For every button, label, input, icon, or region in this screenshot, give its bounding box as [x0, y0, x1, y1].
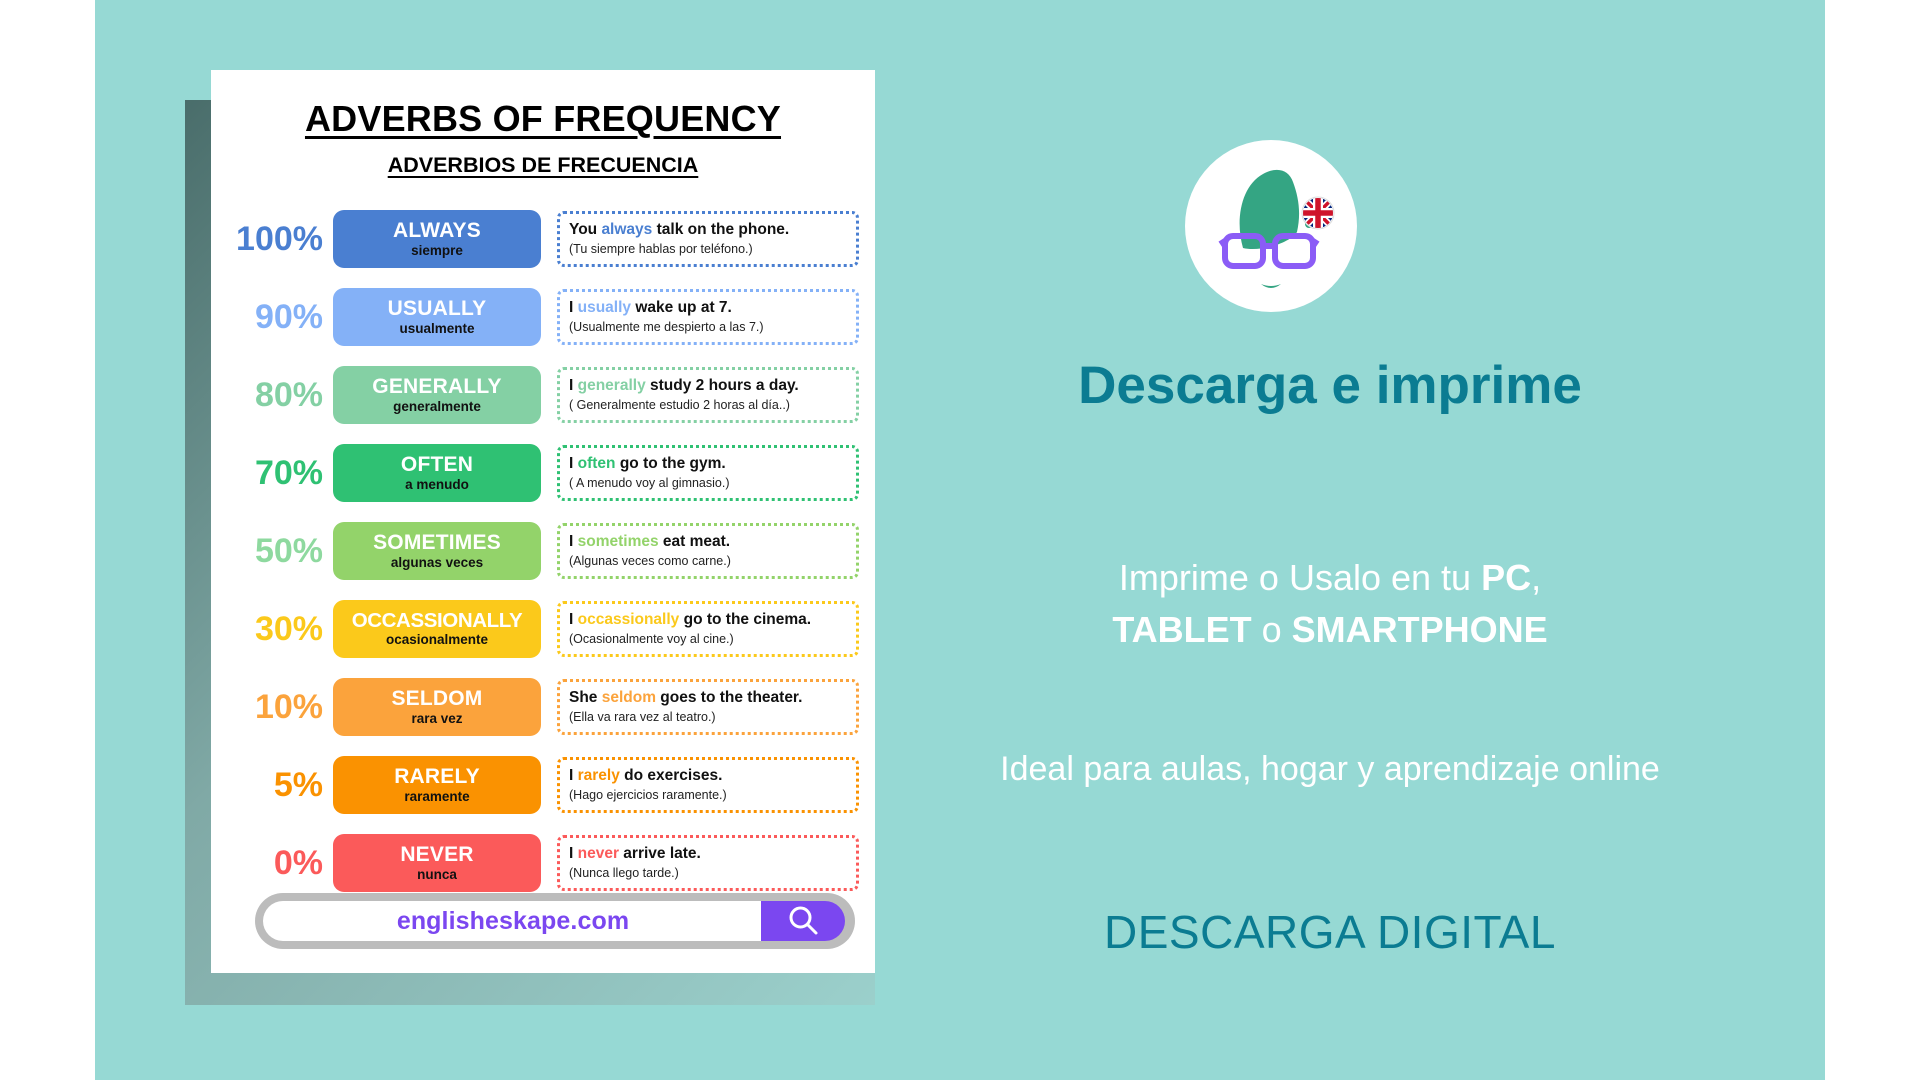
example-adverb: generally	[578, 377, 646, 394]
search-icon	[784, 902, 822, 940]
poster-card: ADVERBS OF FREQUENCY ADVERBIOS DE FRECUE…	[211, 70, 875, 973]
example-box: I occassionally go to the cinema.(Ocasio…	[557, 601, 859, 657]
adverb-spanish: algunas veces	[391, 556, 483, 571]
search-bar[interactable]: englisheskape.com	[255, 893, 855, 949]
adverb-pill: NEVERnunca	[333, 834, 541, 892]
adverb-english: USUALLY	[388, 298, 487, 320]
percent-label: 30%	[225, 612, 333, 646]
adverb-english: ALWAYS	[393, 220, 481, 242]
example-spanish: (Hago ejercicios raramente.)	[569, 788, 856, 803]
example-adverb: rarely	[578, 767, 620, 784]
adverb-row: 80%GENERALLYgeneralmenteI generally stud…	[225, 356, 875, 434]
percent-label: 50%	[225, 534, 333, 568]
percent-label: 0%	[225, 846, 333, 880]
adverb-row: 0%NEVERnuncaI never arrive late. (Nunca …	[225, 824, 875, 902]
example-english: I rarely do exercises.	[569, 767, 856, 785]
example-english: I often go to the gym.	[569, 455, 856, 473]
example-adverb: seldom	[602, 689, 656, 706]
example-spanish: (Tu siempre hablas por teléfono.)	[569, 242, 856, 257]
adverb-row: 50%SOMETIMESalgunas vecesI sometimes eat…	[225, 512, 875, 590]
example-box: You always talk on the phone.(Tu siempre…	[557, 211, 859, 267]
percent-label: 80%	[225, 378, 333, 412]
percent-label: 70%	[225, 456, 333, 490]
example-spanish: ( Generalmente estudio 2 horas al día..)	[569, 398, 856, 413]
adverb-spanish: usualmente	[399, 322, 474, 337]
example-box: I never arrive late. (Nunca llego tarde.…	[557, 835, 859, 891]
adverb-rows: 100%ALWAYSsiempreYou always talk on the …	[211, 200, 875, 902]
promo-line1-or: o	[1252, 609, 1292, 650]
example-box: I generally study 2 hours a day.( Genera…	[557, 367, 859, 423]
promo-digital-download-text: DESCARGA DIGITAL	[960, 905, 1700, 959]
adverb-pill: USUALLYusualmente	[333, 288, 541, 346]
promo-device-smartphone: SMARTPHONE	[1292, 609, 1548, 650]
avatar-face-icon	[1185, 140, 1357, 312]
example-adverb: often	[578, 455, 616, 472]
example-spanish: (Ocasionalmente voy al cine.)	[569, 632, 856, 647]
search-button[interactable]	[761, 901, 845, 941]
slide: ADVERBS OF FREQUENCY ADVERBIOS DE FRECUE…	[0, 0, 1920, 1080]
example-english: You always talk on the phone.	[569, 221, 856, 239]
example-spanish: (Algunas veces como carne.)	[569, 554, 856, 569]
adverb-row: 5%RARELYraramenteI rarely do exercises.(…	[225, 746, 875, 824]
example-spanish: (Nunca llego tarde.)	[569, 866, 856, 881]
adverb-row: 70%OFTENa menudoI often go to the gym.( …	[225, 434, 875, 512]
example-adverb: always	[601, 221, 652, 238]
promo-device-pc: PC	[1481, 557, 1531, 598]
example-spanish: (Usualmente me despierto a las 7.)	[569, 320, 856, 335]
adverb-pill: SELDOMrara vez	[333, 678, 541, 736]
adverb-english: SOMETIMES	[373, 532, 501, 554]
example-english: I generally study 2 hours a day.	[569, 377, 856, 395]
example-spanish: (Ella va rara vez al teatro.)	[569, 710, 856, 725]
adverb-english: OFTEN	[401, 454, 473, 476]
example-english: I usually wake up at 7.	[569, 299, 856, 317]
adverb-spanish: a menudo	[405, 478, 469, 493]
search-url-text: englisheskape.com	[397, 907, 629, 936]
example-english: I never arrive late.	[569, 845, 856, 863]
adverb-english: OCCASSIONALLY	[352, 610, 523, 632]
example-adverb: sometimes	[578, 533, 659, 550]
poster-container: ADVERBS OF FREQUENCY ADVERBIOS DE FRECUE…	[185, 70, 875, 1000]
example-english: I sometimes eat meat.	[569, 533, 856, 551]
example-adverb: usually	[578, 299, 631, 316]
adverb-spanish: ocasionalmente	[386, 633, 488, 648]
poster-subtitle: ADVERBIOS DE FRECUENCIA	[211, 153, 875, 178]
adverb-spanish: rara vez	[411, 712, 462, 727]
adverb-pill: GENERALLYgeneralmente	[333, 366, 541, 424]
adverb-spanish: nunca	[417, 868, 457, 883]
promo-heading: Descarga e imprime	[960, 355, 1700, 418]
example-box: She seldom goes to the theater.(Ella va …	[557, 679, 859, 735]
search-input[interactable]: englisheskape.com	[263, 901, 763, 941]
adverb-pill: RARELYraramente	[333, 756, 541, 814]
percent-label: 100%	[225, 222, 333, 256]
adverb-english: SELDOM	[391, 688, 482, 710]
example-spanish: ( A menudo voy al gimnasio.)	[569, 476, 856, 491]
promo-line1-prefix: Imprime o Usalo en tu	[1119, 557, 1481, 598]
adverb-spanish: raramente	[404, 790, 469, 805]
example-english: She seldom goes to the theater.	[569, 689, 856, 707]
example-english: I occassionally go to the cinema.	[569, 611, 856, 629]
adverb-row: 10%SELDOMrara vezShe seldom goes to the …	[225, 668, 875, 746]
adverb-pill: SOMETIMESalgunas veces	[333, 522, 541, 580]
adverb-spanish: siempre	[411, 244, 463, 259]
adverb-spanish: generalmente	[393, 400, 481, 415]
percent-label: 5%	[225, 768, 333, 802]
adverb-row: 100%ALWAYSsiempreYou always talk on the …	[225, 200, 875, 278]
adverb-row: 90%USUALLYusualmenteI usually wake up at…	[225, 278, 875, 356]
percent-label: 10%	[225, 690, 333, 724]
promo-devices-text: Imprime o Usalo en tu PC, TABLET o SMART…	[960, 552, 1700, 656]
promo-usecase-text: Ideal para aulas, hogar y aprendizaje on…	[960, 745, 1700, 794]
example-adverb: never	[578, 845, 619, 862]
adverb-row: 30%OCCASSIONALLYocasionalmenteI occassio…	[225, 590, 875, 668]
adverb-english: RARELY	[394, 766, 480, 788]
adverb-pill: ALWAYSsiempre	[333, 210, 541, 268]
example-box: I often go to the gym.( A menudo voy al …	[557, 445, 859, 501]
example-box: I sometimes eat meat.(Algunas veces como…	[557, 523, 859, 579]
percent-label: 90%	[225, 300, 333, 334]
promo-device-tablet: TABLET	[1112, 609, 1251, 650]
promo-panel: Descarga e imprime Imprime o Usalo en tu…	[960, 0, 1700, 1080]
adverb-english: GENERALLY	[372, 376, 501, 398]
example-adverb: occassionally	[578, 611, 680, 628]
example-box: I rarely do exercises.(Hago ejercicios r…	[557, 757, 859, 813]
promo-line1-comma: ,	[1531, 557, 1541, 598]
example-box: I usually wake up at 7.(Usualmente me de…	[557, 289, 859, 345]
avatar-logo-icon	[1185, 140, 1357, 312]
adverb-english: NEVER	[400, 844, 473, 866]
adverb-pill: OFTENa menudo	[333, 444, 541, 502]
poster-title: ADVERBS OF FREQUENCY	[211, 70, 875, 140]
adverb-pill: OCCASSIONALLYocasionalmente	[333, 600, 541, 658]
